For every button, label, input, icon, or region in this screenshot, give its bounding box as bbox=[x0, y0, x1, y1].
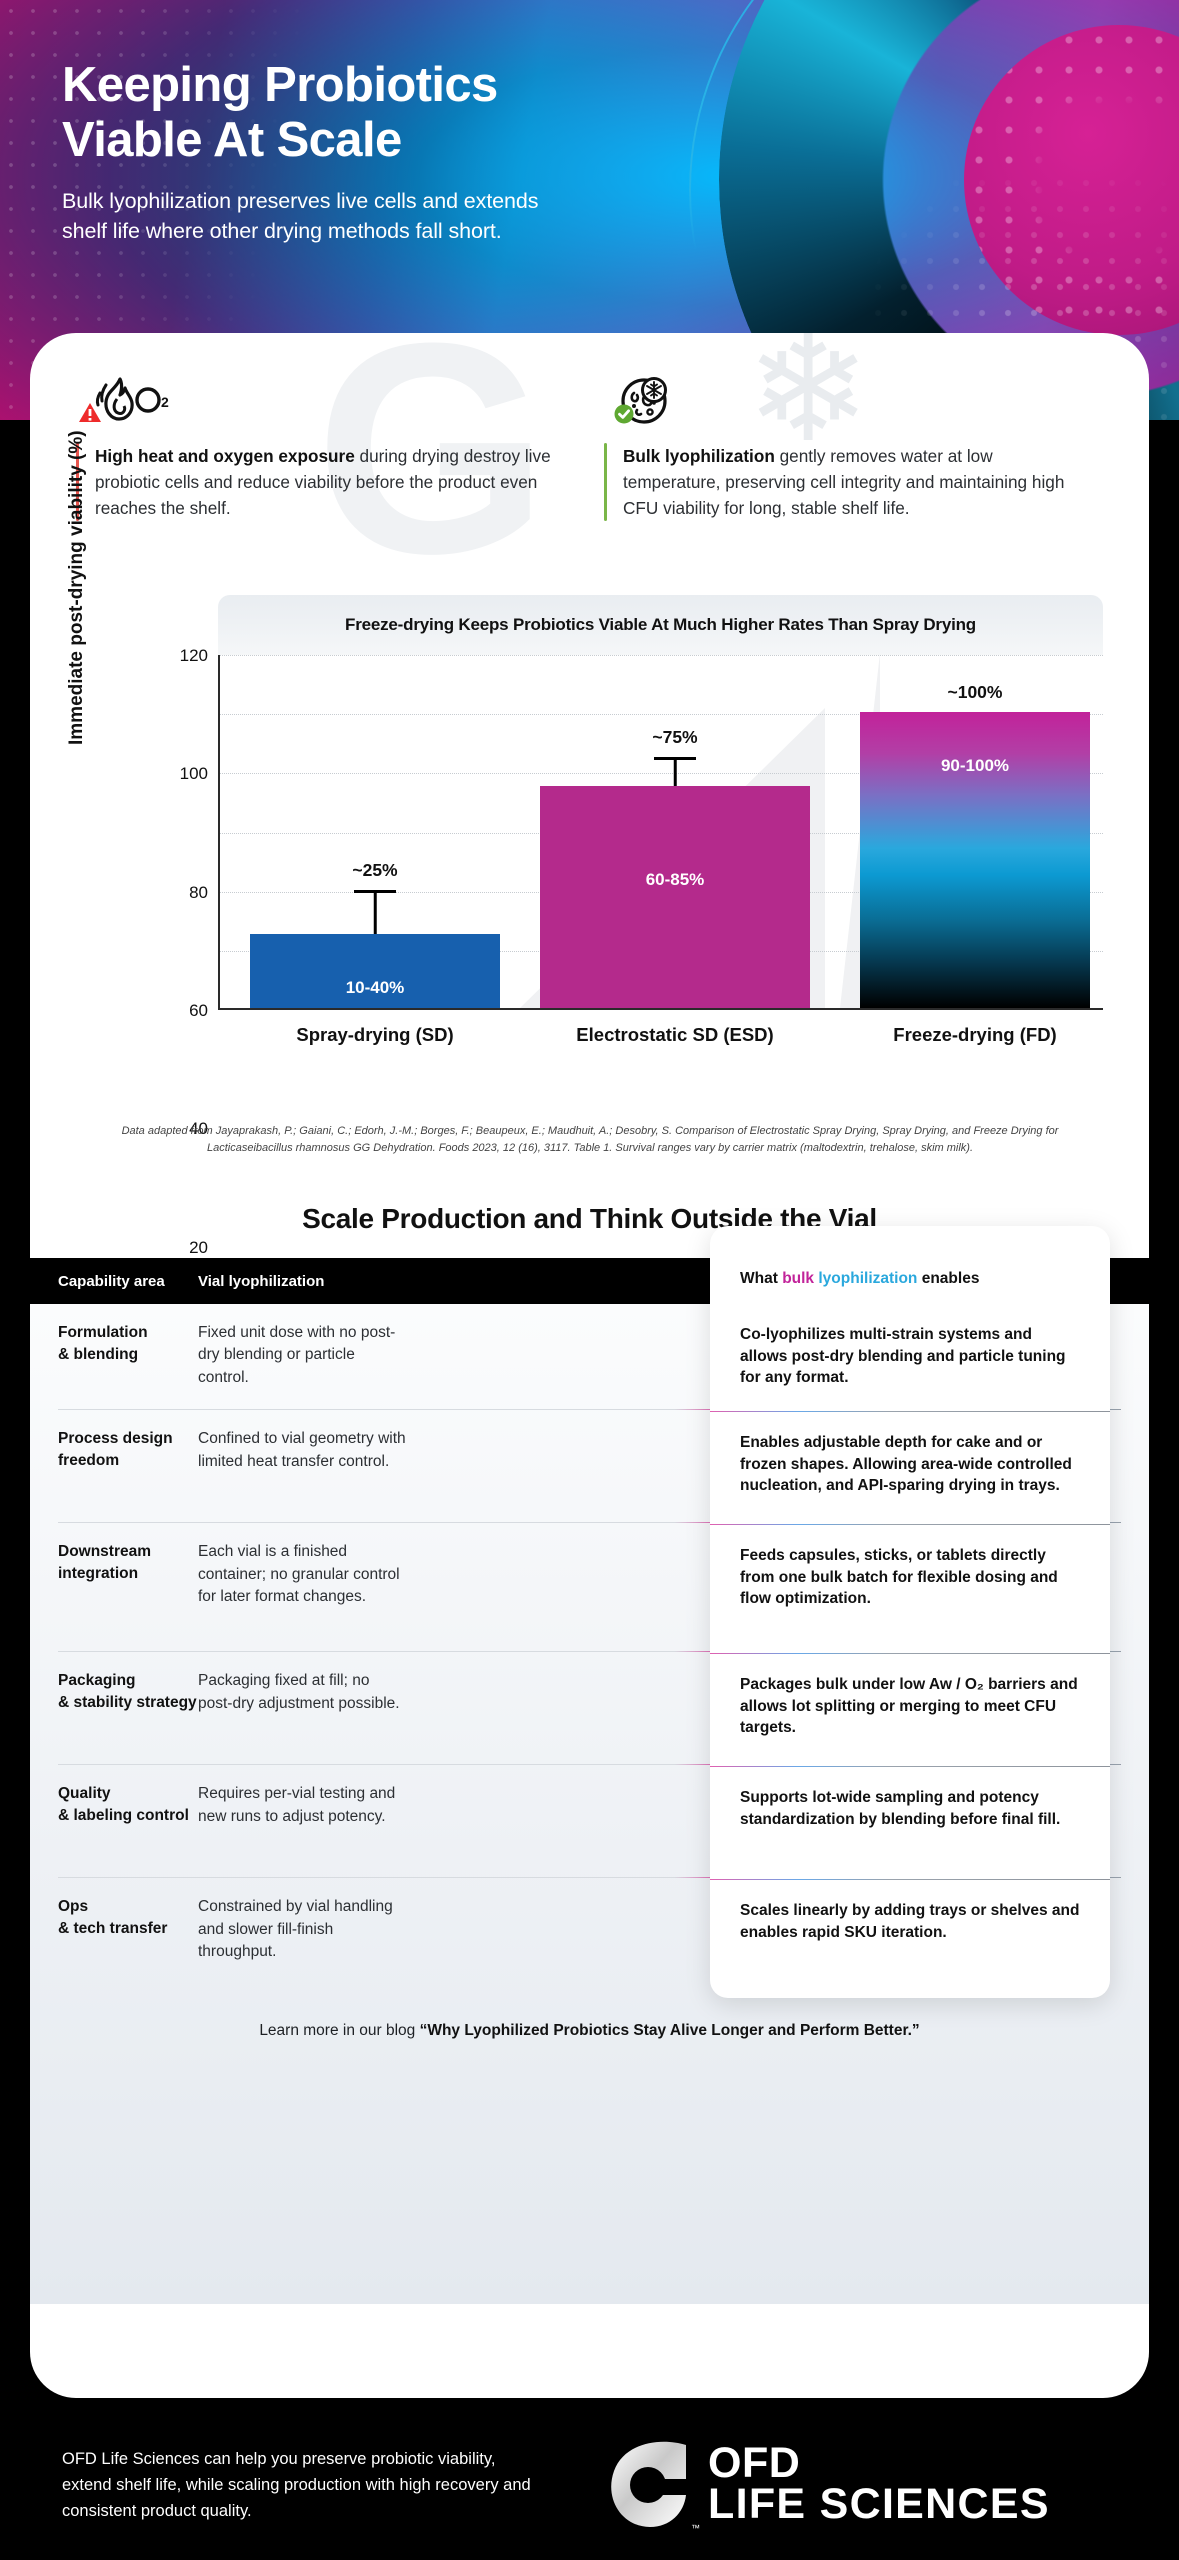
page-subtitle-line2: shelf life where other drying methods fa… bbox=[62, 216, 762, 247]
bulk-lyophilization-panel: What bulk lyophilization enables Co-lyop… bbox=[710, 1226, 1110, 1998]
table-cell-vial: Fixed unit dose with no post-dry blendin… bbox=[198, 1322, 408, 1389]
chart-bar-top-label: ~25% bbox=[250, 860, 500, 881]
chart-bar-range-label: 60-85% bbox=[540, 870, 810, 890]
callout-risk-body: High heat and oxygen exposure during dry… bbox=[76, 443, 566, 521]
blog-callout-line: Learn more in our blog “Why Lyophilized … bbox=[30, 1996, 1149, 2070]
table-cell-bulk: Scales linearly by adding trays or shelv… bbox=[710, 1880, 1110, 1998]
table-cell-vial: Packaging fixed at fill; no post-dry adj… bbox=[198, 1670, 408, 1715]
callout-accent-bar bbox=[604, 443, 607, 521]
chart-y-axis-label: Immediate post-drying viability (%) bbox=[66, 430, 88, 745]
callout-benefit-lead: Bulk lyophilization bbox=[623, 446, 775, 466]
callout-risk-text: High heat and oxygen exposure during dry… bbox=[95, 443, 566, 521]
chart-y-tick: 80 bbox=[189, 883, 208, 903]
table-cell-capability: Formulation& blending bbox=[30, 1322, 198, 1365]
chart-bar: 90-100% bbox=[860, 712, 1090, 1008]
table-header-vial: Vial lyophilization bbox=[198, 1273, 408, 1290]
footer-bar: OFD Life Sciences can help you preserve … bbox=[0, 2410, 1179, 2560]
callout-risk-lead: High heat and oxygen exposure bbox=[95, 446, 355, 466]
chart-bar: 10-40% bbox=[250, 934, 500, 1008]
comparison-table: Capability area Vial lyophilization Form… bbox=[30, 1258, 1149, 2070]
chart-y-tick: 60 bbox=[189, 1001, 208, 1021]
page-title: Keeping Probiotics Viable At Scale bbox=[62, 58, 762, 168]
callout-benefit-body: Bulk lyophilization gently removes water… bbox=[604, 443, 1094, 521]
ofd-logo-line2: LIFE SCIENCES bbox=[708, 2483, 1050, 2527]
chart-bar-top-label: ~100% bbox=[860, 682, 1090, 703]
chart-bar-range-label: 10-40% bbox=[250, 978, 500, 998]
callout-cards: 2 High heat and oxygen exposure during d… bbox=[76, 373, 1106, 521]
callout-benefit-text: Bulk lyophilization gently removes water… bbox=[623, 443, 1094, 521]
chart-bar-top-label: ~75% bbox=[540, 727, 810, 748]
table-cell-bulk: Co-lyophilizes multi-strain systems and … bbox=[710, 1304, 1110, 1411]
table-cell-capability: Packaging& stability strategy bbox=[30, 1670, 198, 1713]
callout-card-benefit: Bulk lyophilization gently removes water… bbox=[604, 373, 1094, 521]
table-cell-vial: Constrained by vial handling and slower … bbox=[198, 1896, 408, 1963]
page-subtitle: Bulk lyophilization preserves live cells… bbox=[62, 186, 762, 247]
header-text-block: Keeping Probiotics Viable At Scale Bulk … bbox=[62, 58, 762, 247]
table-cell-capability: Process designfreedom bbox=[30, 1428, 198, 1471]
bulk-header-suffix: enables bbox=[917, 1270, 979, 1287]
ofd-logo-line1: OFD bbox=[708, 2443, 1050, 2484]
ofd-logo-mark-icon: ™ bbox=[598, 2435, 698, 2535]
ofd-logo: ™ OFD LIFE SCIENCES bbox=[598, 2435, 1050, 2535]
bulk-panel-header-text: What bulk lyophilization enables bbox=[740, 1270, 979, 1288]
chart-citation: Data adapted from Jayaprakash, P.; Gaian… bbox=[100, 1123, 1080, 1157]
blog-title[interactable]: “Why Lyophilized Probiotics Stay Alive L… bbox=[420, 2022, 920, 2039]
fire-oxygen-warning-icon: 2 bbox=[76, 373, 566, 431]
page-subtitle-line1: Bulk lyophilization preserves live cells… bbox=[62, 186, 762, 217]
callout-card-risk: 2 High heat and oxygen exposure during d… bbox=[76, 373, 566, 521]
trademark-symbol: ™ bbox=[691, 2523, 700, 2533]
chart-x-category: Freeze-drying (FD) bbox=[860, 1024, 1090, 1046]
bulk-panel-header: What bulk lyophilization enables bbox=[710, 1226, 1110, 1304]
bulk-panel-cells: Co-lyophilizes multi-strain systems and … bbox=[710, 1304, 1110, 1998]
microbe-snowflake-icon bbox=[604, 373, 1094, 431]
chart-error-cap bbox=[654, 757, 696, 760]
chart-bar-range-label: 90-100% bbox=[860, 756, 1090, 776]
table-cell-capability: Downstreamintegration bbox=[30, 1541, 198, 1584]
bulk-header-lyo: lyophilization bbox=[814, 1270, 917, 1287]
chart-x-category: Spray-drying (SD) bbox=[250, 1024, 500, 1046]
chart-y-tick: 100 bbox=[180, 764, 208, 784]
bulk-header-bulk: bulk bbox=[782, 1270, 814, 1287]
table-cell-vial: Each vial is a finished container; no gr… bbox=[198, 1541, 408, 1608]
content-sheet: G ❄ 2 High heat and bbox=[30, 333, 1149, 2398]
chart-title-bar: Freeze-drying Keeps Probiotics Viable At… bbox=[218, 595, 1103, 655]
table-cell-bulk: Enables adjustable depth for cake and or… bbox=[710, 1412, 1110, 1524]
page-title-line2: Viable At Scale bbox=[62, 113, 762, 168]
chart-y-tick: 20 bbox=[189, 1238, 208, 1258]
viability-bar-chart: Freeze-drying Keeps Probiotics Viable At… bbox=[78, 595, 1103, 1095]
table-cell-bulk: Packages bulk under low Aw / O₂ barriers… bbox=[710, 1654, 1110, 1766]
footer-text: OFD Life Sciences can help you preserve … bbox=[62, 2446, 542, 2524]
chart-bar-group: ~75%Electrostatic SD (ESD)60-85% bbox=[540, 653, 810, 1008]
table-cell-capability: Ops& tech transfer bbox=[30, 1896, 198, 1939]
table-cell-vial: Requires per-vial testing and new runs t… bbox=[198, 1783, 408, 1828]
table-header-capability: Capability area bbox=[30, 1273, 198, 1290]
table-cell-vial: Confined to vial geometry with limited h… bbox=[198, 1428, 408, 1473]
table-cell-capability: Quality& labeling control bbox=[30, 1783, 198, 1826]
table-cell-bulk: Feeds capsules, sticks, or tablets direc… bbox=[710, 1525, 1110, 1653]
chart-bar: 60-85% bbox=[540, 786, 810, 1008]
ofd-logo-wordmark: OFD LIFE SCIENCES bbox=[708, 2443, 1050, 2528]
bulk-header-prefix: What bbox=[740, 1270, 782, 1287]
page-title-line1: Keeping Probiotics bbox=[62, 58, 762, 113]
chart-bar-group: ~100%Freeze-drying (FD)90-100% bbox=[860, 653, 1090, 1008]
table-cell-bulk: Supports lot-wide sampling and potency s… bbox=[710, 1767, 1110, 1879]
blog-prefix: Learn more in our blog bbox=[259, 2022, 419, 2039]
chart-title: Freeze-drying Keeps Probiotics Viable At… bbox=[345, 615, 976, 635]
chart-x-category: Electrostatic SD (ESD) bbox=[540, 1024, 810, 1046]
chart-plot-area: 020406080100120~25%Spray-drying (SD)10-4… bbox=[218, 655, 1103, 1010]
svg-text:2: 2 bbox=[161, 394, 169, 410]
chart-bar-group: ~25%Spray-drying (SD)10-40% bbox=[250, 653, 500, 1008]
chart-y-tick: 120 bbox=[180, 646, 208, 666]
chart-error-cap bbox=[354, 890, 396, 893]
